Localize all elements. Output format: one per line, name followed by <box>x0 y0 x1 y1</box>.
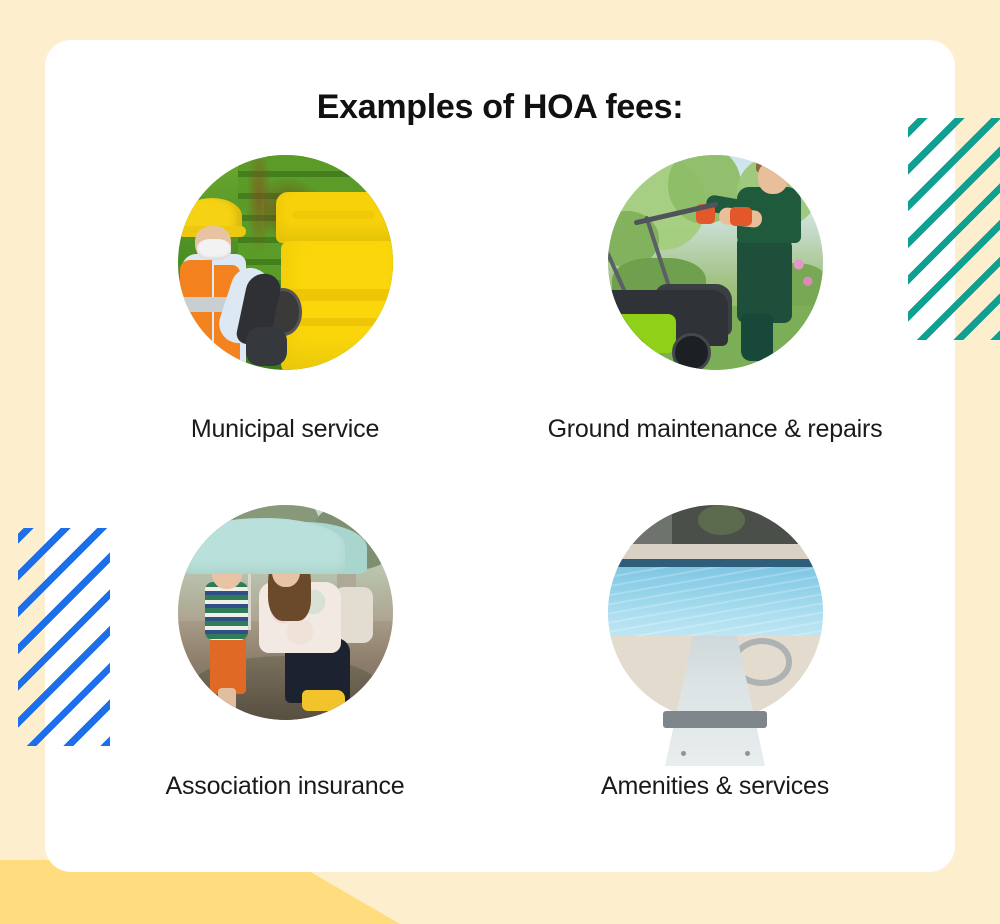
fee-item-label: Municipal service <box>191 415 379 444</box>
lawn-mowing-photo <box>608 155 823 370</box>
fee-item-ground-maintenance: Ground maintenance & repairs <box>500 155 930 505</box>
fee-item-label: Ground maintenance & repairs <box>548 415 883 444</box>
fee-item-municipal-service: Municipal service <box>70 155 500 505</box>
swimming-pool-photo <box>608 505 823 720</box>
trash-collection-photo <box>178 155 393 370</box>
fee-item-amenities-services: Amenities & services <box>500 505 930 855</box>
hoa-fee-examples-grid: Municipal service <box>70 155 930 855</box>
umbrella-family-photo <box>178 505 393 720</box>
page-title: Examples of HOA fees: <box>45 88 955 127</box>
hoa-fees-infographic: Examples of HOA fees: <box>0 0 1000 924</box>
fee-item-association-insurance: Association insurance <box>70 505 500 855</box>
diving-board-base <box>663 711 767 728</box>
fee-item-label: Association insurance <box>166 772 405 801</box>
fee-item-label: Amenities & services <box>601 772 829 801</box>
